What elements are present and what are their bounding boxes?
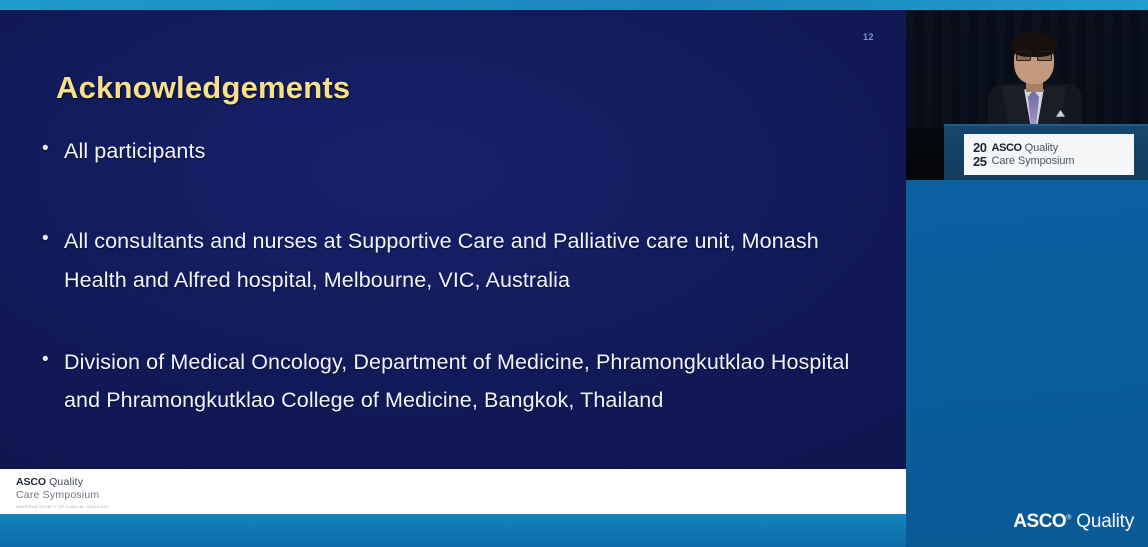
asco-wordmark: ASCO — [16, 476, 46, 488]
bullet-icon: • — [42, 132, 64, 166]
slide-bullet-list: • All participants • All consultants and… — [42, 132, 866, 419]
glasses-icon — [1037, 51, 1052, 61]
page-title: Acknowledgements — [56, 70, 350, 106]
asco-symposium-logo-tiny: AMERICAN SOCIETY OF CLINICAL ONCOLOGY — [16, 505, 121, 509]
presentation-viewer: 12 Acknowledgements • All participants •… — [0, 0, 1148, 547]
slide-number: 12 — [863, 32, 874, 42]
asco-symposium-logo-line1: ASCO Quality — [16, 476, 121, 488]
glasses-icon — [1016, 51, 1031, 61]
watermark-brand: ASCO — [1013, 511, 1066, 532]
podium-sign-line2: Care Symposium — [991, 155, 1074, 168]
top-accent-strip — [0, 0, 1148, 10]
bottom-accent-strip — [0, 514, 906, 547]
asco-symposium-logo-line2: Care Symposium — [16, 489, 121, 501]
podium-sign-year-top: 20 — [973, 141, 986, 154]
list-item: • All participants — [42, 132, 866, 170]
podium-sign-quality: Quality — [1025, 142, 1059, 154]
asco-symposium-logo: ASCO Quality Care Symposium AMERICAN SOC… — [16, 476, 121, 509]
bullet-icon: • — [42, 222, 64, 256]
slide-footer: ASCO Quality Care Symposium AMERICAN SOC… — [0, 469, 906, 514]
list-item: • All consultants and nurses at Supporti… — [42, 222, 866, 299]
asco-symposium-quality: Quality — [49, 476, 83, 488]
podium-sign-line1: ASCO Quality — [991, 142, 1074, 155]
speaker-video[interactable]: 20 25 ASCO Quality Care Symposium — [906, 10, 1148, 180]
bullet-text: All participants — [64, 132, 866, 170]
watermark-rest: Quality — [1076, 511, 1134, 532]
bullet-text: Division of Medical Oncology, Department… — [64, 343, 866, 420]
podium-sign-asco: ASCO — [991, 142, 1021, 154]
podium-sign-year: 20 25 — [973, 141, 986, 168]
bullet-icon: • — [42, 343, 64, 377]
asco-quality-watermark: ASCO® Quality — [1013, 511, 1134, 533]
podium-sign: 20 25 ASCO Quality Care Symposium — [964, 134, 1134, 175]
list-item: • Division of Medical Oncology, Departme… — [42, 343, 866, 420]
slide-canvas[interactable]: 12 Acknowledgements • All participants •… — [0, 10, 906, 469]
bullet-text: All consultants and nurses at Supportive… — [64, 222, 866, 299]
trademark-icon: ® — [1066, 515, 1071, 522]
podium-sign-year-bottom: 25 — [973, 155, 986, 168]
podium-sign-text: ASCO Quality Care Symposium — [991, 142, 1074, 168]
